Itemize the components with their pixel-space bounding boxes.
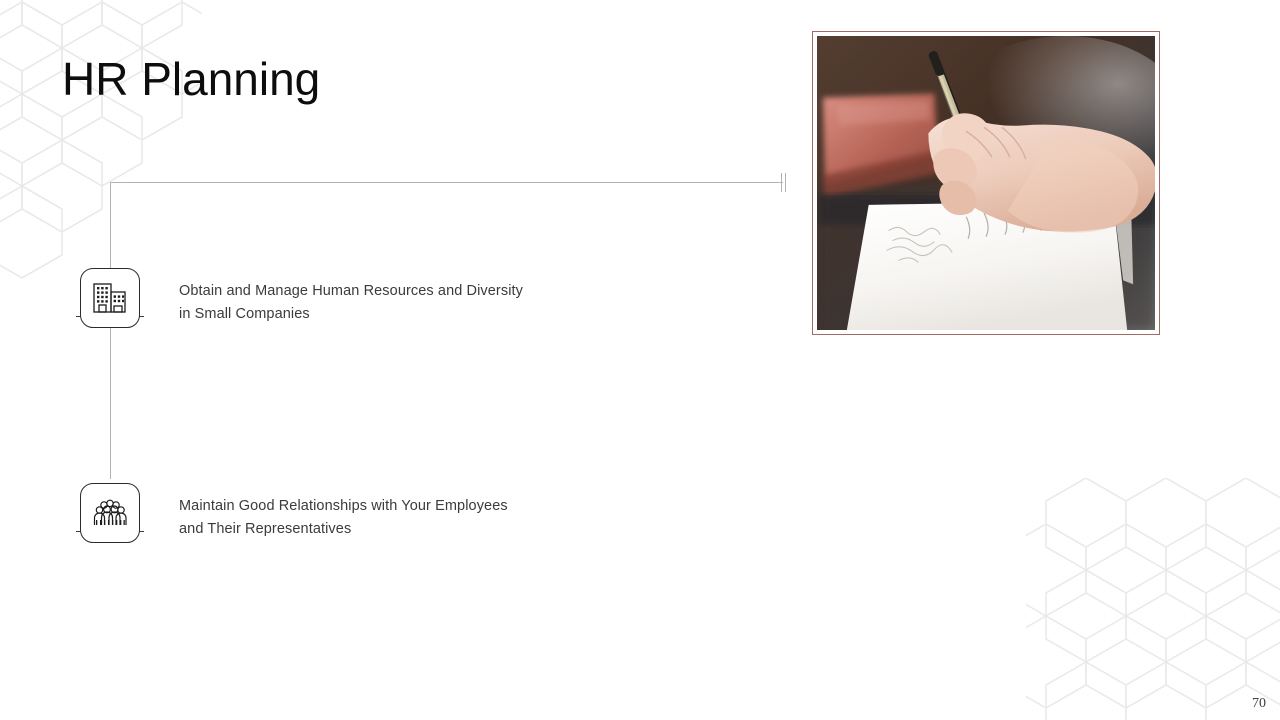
photo-frame (812, 31, 1160, 335)
step-text-2: Maintain Good Relationships with Your Em… (179, 495, 649, 541)
slide: HR Planning (0, 0, 1280, 720)
step-text-1-line-2: in Small Companies (179, 303, 649, 326)
writing-hand-photo (817, 36, 1155, 330)
step-text-2-line-1: Maintain Good Relationships with Your Em… (179, 495, 649, 518)
office-building-icon (93, 283, 127, 313)
step-text-2-line-2: and Their Representatives (179, 518, 649, 541)
hexagon-pattern-top-left (0, 0, 202, 286)
page-number: 70 (1252, 696, 1266, 712)
connector-horizontal-line (110, 182, 783, 183)
step-icon-box-2[interactable] (80, 483, 140, 543)
step-text-1: Obtain and Manage Human Resources and Di… (179, 280, 649, 326)
step-text-1-line-1: Obtain and Manage Human Resources and Di… (179, 280, 649, 303)
connector-endcap-tick-2 (785, 173, 786, 192)
step-item-2[interactable]: Maintain Good Relationships with Your Em… (0, 483, 1280, 563)
connector-endcap-tick-1 (781, 173, 782, 192)
people-group-icon (93, 499, 127, 527)
step-icon-box-1[interactable] (80, 268, 140, 328)
page-title: HR Planning (62, 49, 320, 109)
